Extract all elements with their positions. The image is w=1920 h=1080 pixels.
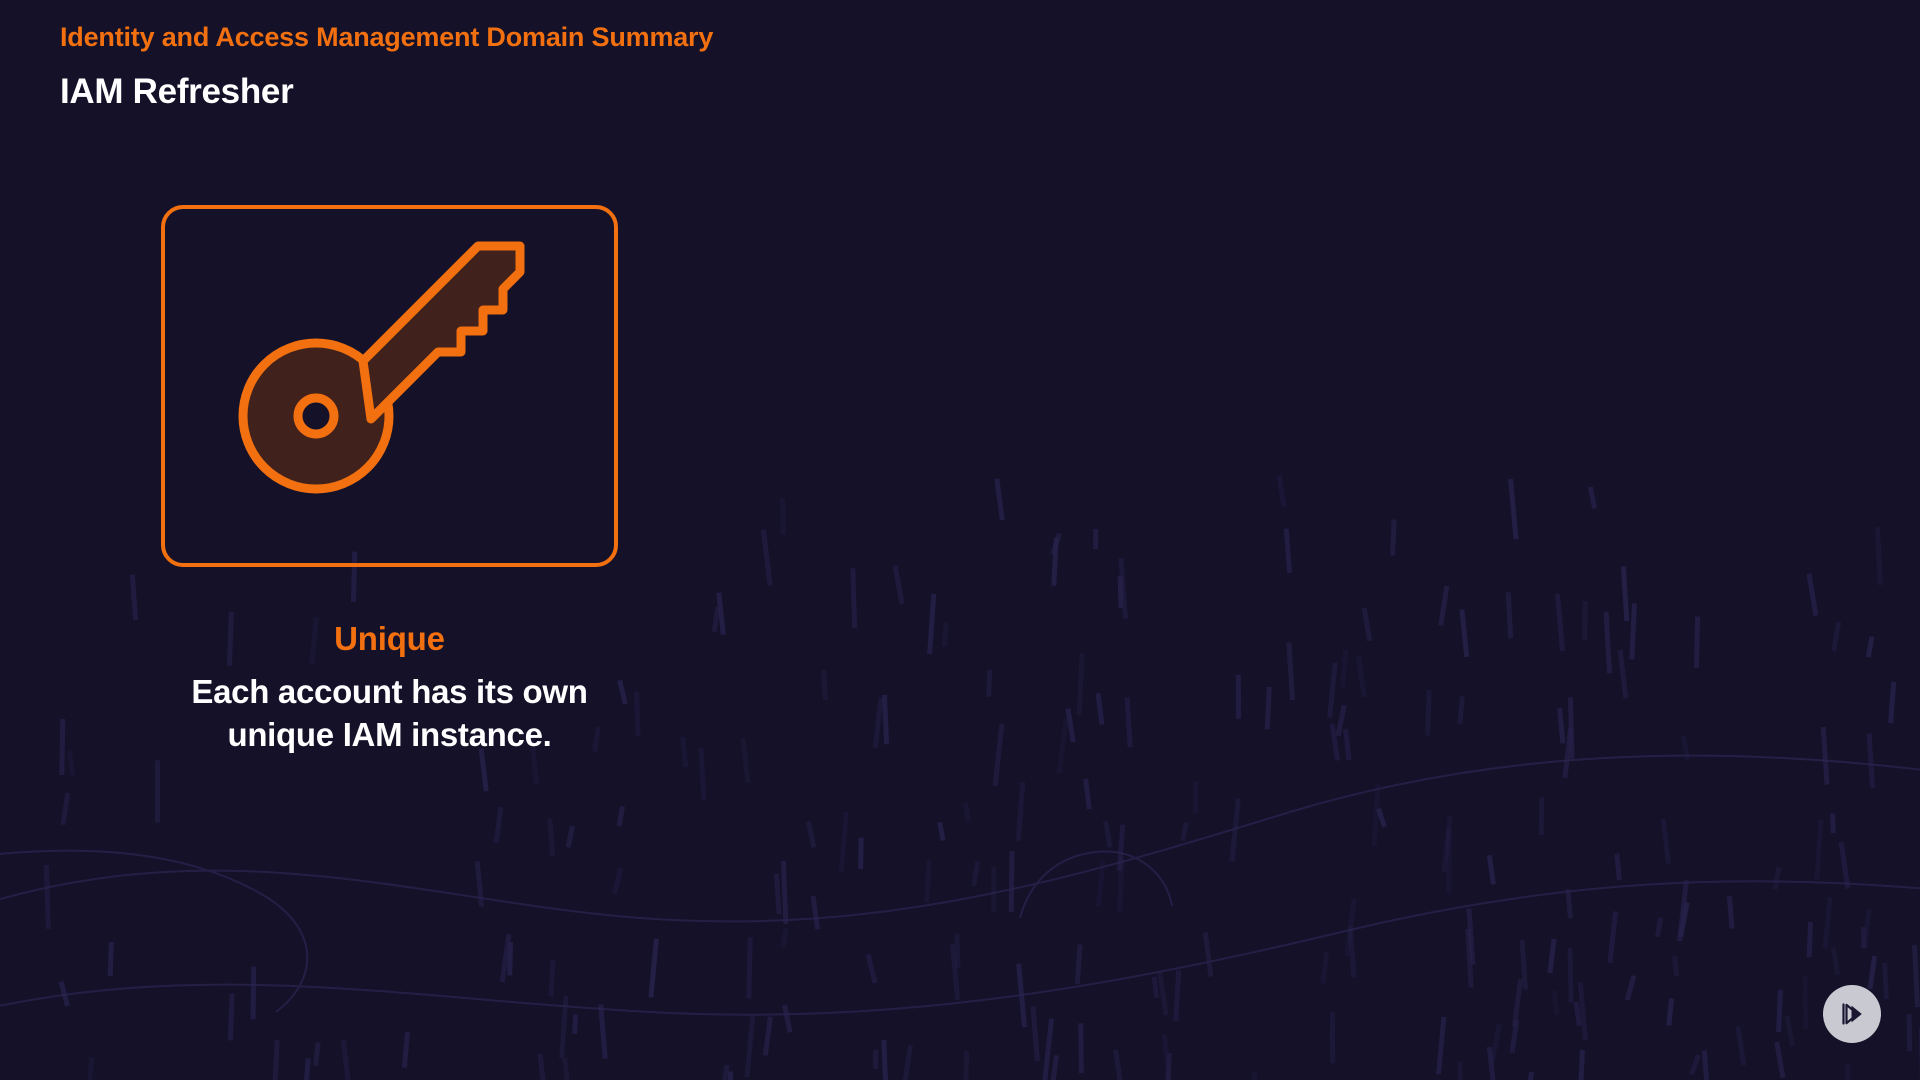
caption-block: Unique Each account has its own unique I… — [161, 620, 618, 757]
page-title: IAM Refresher — [60, 72, 293, 112]
key-icon — [165, 209, 622, 571]
play-button[interactable] — [1823, 985, 1881, 1043]
key-hole — [298, 398, 334, 434]
caption-heading: Unique — [161, 620, 618, 658]
key-blade — [363, 246, 520, 419]
slide-eyebrow: Identity and Access Management Domain Su… — [60, 22, 713, 53]
caption-body: Each account has its own unique IAM inst… — [161, 670, 618, 757]
slide: Identity and Access Management Domain Su… — [0, 0, 1920, 1080]
play-forward-icon — [1837, 999, 1867, 1029]
icon-card — [161, 205, 618, 567]
